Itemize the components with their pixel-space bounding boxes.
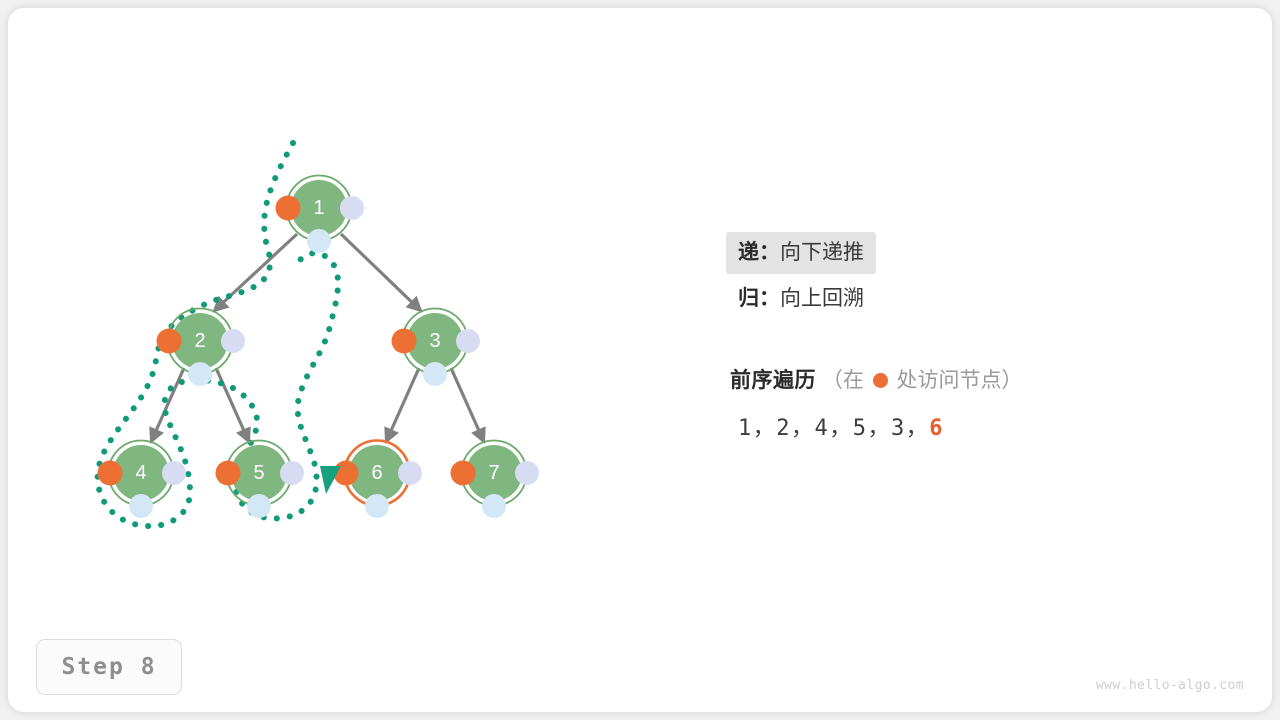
visit-dot-icon <box>216 461 241 486</box>
legend-return-keyword: 归： <box>738 287 780 310</box>
bottom-dot-icon <box>482 494 506 518</box>
traversal-sequence-prefix: 1，2，4，5，3， <box>738 416 929 441</box>
tree-node-4[interactable]: 4 <box>98 441 187 519</box>
traversal-sequence: 1，2，4，5，3，6 <box>738 410 944 442</box>
edge-2-5 <box>216 368 249 442</box>
legend-panel: 递：向下递推 归：向上回溯 <box>726 232 1146 320</box>
right-dot-icon <box>398 461 422 485</box>
bottom-dot-icon <box>247 494 271 518</box>
legend-return-row: 归：向上回溯 <box>726 278 1146 320</box>
node-label: 7 <box>488 462 499 484</box>
visit-dot-icon <box>392 329 417 354</box>
edge-3-7 <box>451 368 484 442</box>
traversal-sequence-current: 6 <box>929 416 944 441</box>
right-dot-icon <box>515 461 539 485</box>
legend-recurse-highlight: 递：向下递推 <box>726 232 876 274</box>
visit-dot-icon <box>451 461 476 486</box>
binary-tree-diagram: 1 2 3 <box>0 0 1280 720</box>
right-dot-icon <box>221 329 245 353</box>
legend-recurse-text: 向下递推 <box>780 241 864 264</box>
bottom-dot-icon <box>365 494 389 518</box>
step-badge: Step 8 <box>36 639 182 695</box>
edge-1-2 <box>214 234 297 311</box>
page-background: 1 2 3 <box>0 0 1280 720</box>
visit-dot-icon <box>276 196 301 221</box>
node-label: 4 <box>135 462 146 484</box>
node-label: 1 <box>313 197 324 219</box>
visit-dot-icon <box>98 461 123 486</box>
orange-dot-icon <box>873 373 888 388</box>
tree-node-5[interactable]: 5 <box>216 441 305 519</box>
step-badge-label: Step 8 <box>61 654 156 680</box>
legend-recurse-row: 递：向下递推 <box>726 232 1146 274</box>
traversal-order-title: 前序遍历 （在 处访问节点） <box>730 364 1023 394</box>
traversal-order-note-close: 处访问节点） <box>897 369 1023 392</box>
right-dot-icon <box>162 461 186 485</box>
bottom-dot-icon <box>423 362 447 386</box>
right-dot-icon <box>280 461 304 485</box>
bottom-dot-icon <box>307 229 331 253</box>
bottom-dot-icon <box>188 362 212 386</box>
legend-recurse-keyword: 递： <box>738 241 780 264</box>
tree-node-2[interactable]: 2 <box>157 309 246 387</box>
node-label: 5 <box>253 462 264 484</box>
tree-nodes: 1 2 3 <box>98 176 540 519</box>
node-label: 2 <box>194 330 205 352</box>
edge-1-3 <box>341 234 421 311</box>
visit-dot-icon <box>157 329 182 354</box>
legend-return-text: 向上回溯 <box>780 287 864 310</box>
right-dot-icon <box>456 329 480 353</box>
node-label: 3 <box>429 330 440 352</box>
watermark: www.hello-algo.com <box>1096 678 1244 693</box>
tree-node-7[interactable]: 7 <box>451 441 540 519</box>
traversal-order-name: 前序遍历 <box>730 369 816 392</box>
tree-node-3[interactable]: 3 <box>392 309 481 387</box>
legend-return-wrap: 归：向上回溯 <box>726 278 876 320</box>
tree-node-6[interactable]: 6 <box>334 441 423 519</box>
node-label: 6 <box>371 462 382 484</box>
edge-3-6 <box>386 368 419 442</box>
bottom-dot-icon <box>129 494 153 518</box>
traversal-order-note-open: （在 <box>822 369 864 392</box>
edge-2-4 <box>151 368 184 442</box>
right-dot-icon <box>340 196 364 220</box>
